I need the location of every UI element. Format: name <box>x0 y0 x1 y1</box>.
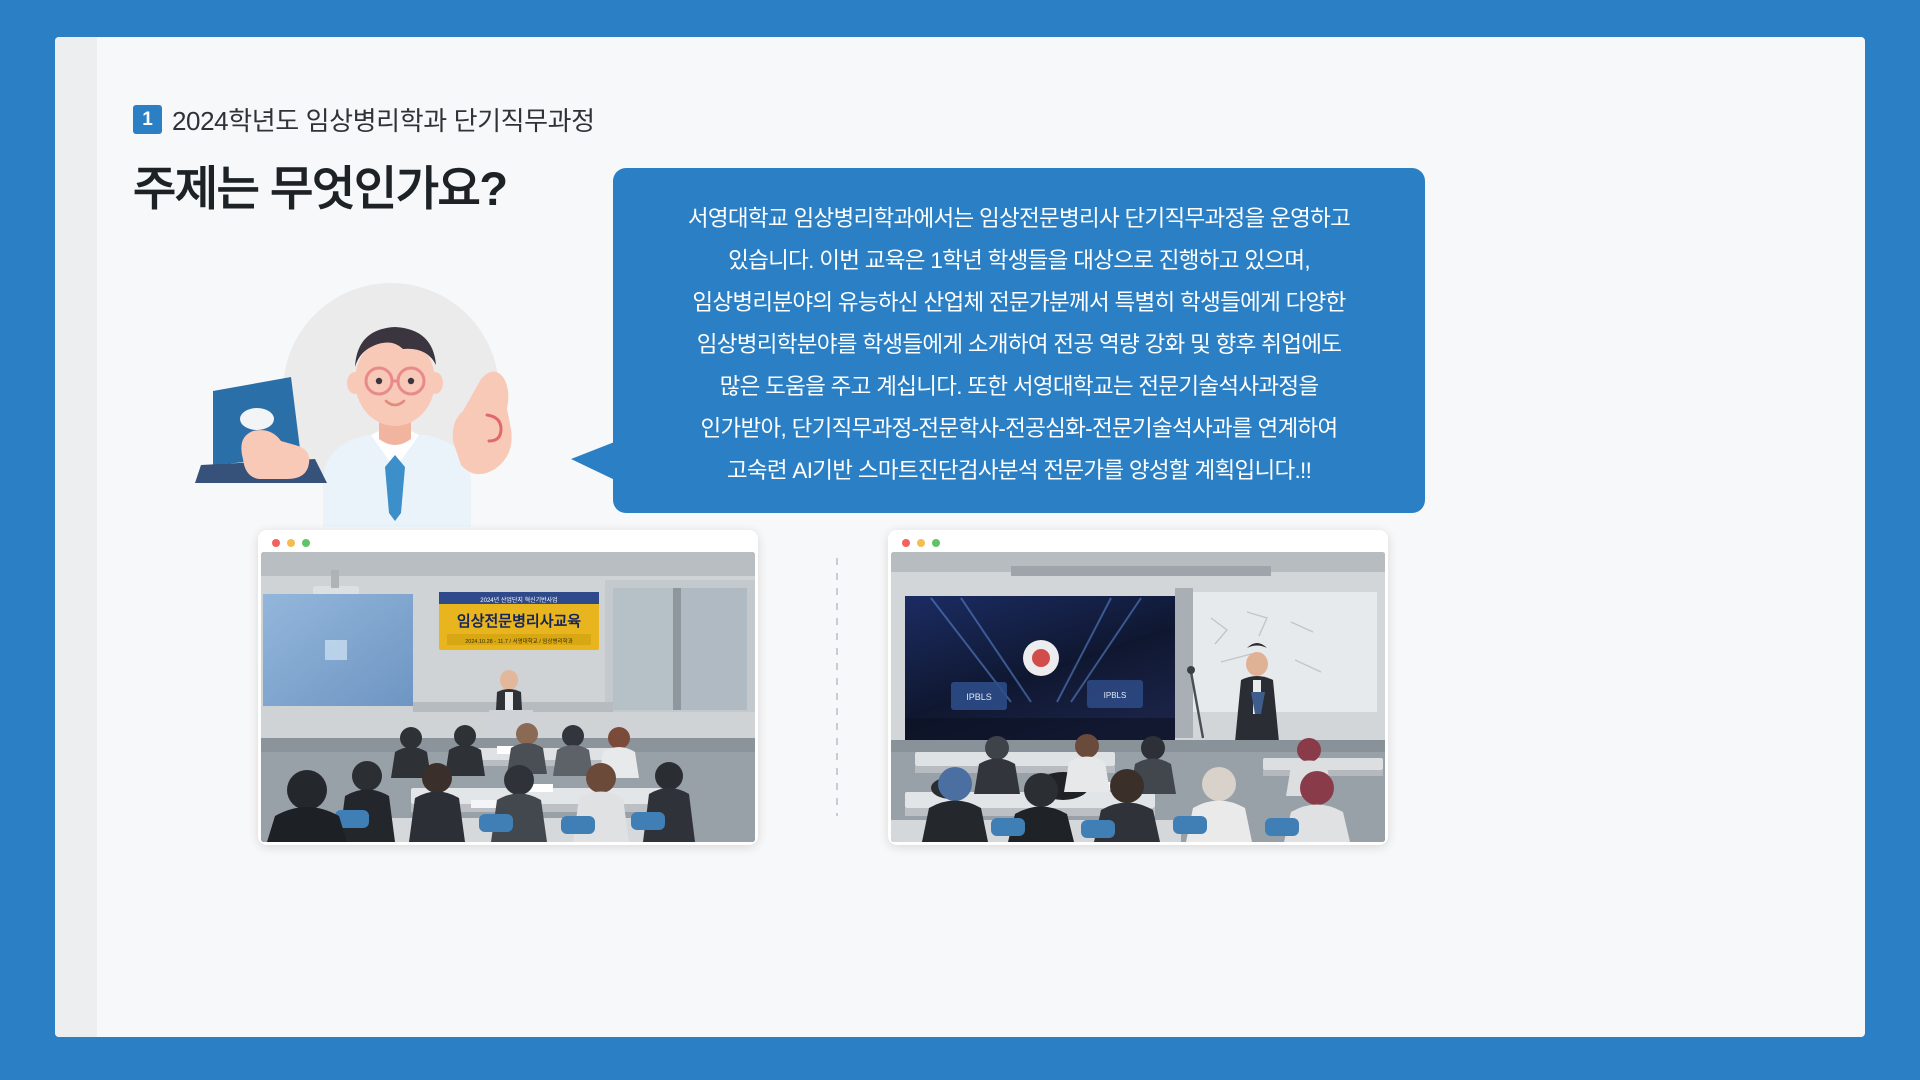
slide-frame: 1 2024학년도 임상병리학과 단기직무과정 주제는 무엇인가요? 서영대학교… <box>0 0 1920 1080</box>
page-title: 주제는 무엇인가요? <box>133 150 595 219</box>
maximize-dot-icon <box>932 539 940 547</box>
bubble-line: 고숙련 AI기반 스마트진단검사분석 전문가를 양성할 계획입니다.!! <box>637 450 1401 492</box>
close-dot-icon <box>902 539 910 547</box>
bubble-line: 있습니다. 이번 교육은 1학년 학생들을 대상으로 진행하고 있으며, <box>637 240 1401 282</box>
badge-number: 1 <box>133 105 162 134</box>
svg-text:IPBLS: IPBLS <box>1104 691 1127 700</box>
maximize-dot-icon <box>302 539 310 547</box>
bubble-line: 인가받아, 단기직무과정-전문학사-전공심화-전문기술석사과를 연계하여 <box>637 408 1401 450</box>
eyebrow-row: 1 2024학년도 임상병리학과 단기직무과정 <box>133 101 595 138</box>
close-dot-icon <box>272 539 280 547</box>
person-with-laptop-illustration <box>195 269 595 529</box>
speech-bubble: 서영대학교 임상병리학과에서는 임상전문병리사 단기직무과정을 운영하고 있습니… <box>613 168 1425 513</box>
header: 1 2024학년도 임상병리학과 단기직무과정 주제는 무엇인가요? <box>133 101 595 219</box>
bubble-line: 많은 도움을 주고 계십니다. 또한 서영대학교는 전문기술석사과정을 <box>637 366 1401 408</box>
photo-row: 2024년 산업단지 혁신기반사업 임상전문병리사교육 2024.10.28 -… <box>258 530 1428 845</box>
classroom-photo-left[interactable]: 2024년 산업단지 혁신기반사업 임상전문병리사교육 2024.10.28 -… <box>258 530 758 845</box>
minimize-dot-icon <box>287 539 295 547</box>
slide-card: 1 2024학년도 임상병리학과 단기직무과정 주제는 무엇인가요? 서영대학교… <box>55 37 1865 1037</box>
bubble-line: 임상병리분야의 유능하신 산업체 전문가분께서 특별히 학생들에게 다양한 <box>637 282 1401 324</box>
bubble-line: 임상병리학분야를 학생들에게 소개하여 전공 역량 강화 및 향후 취업에도 <box>637 324 1401 366</box>
svg-text:임상전문병리사교육: 임상전문병리사교육 <box>457 613 581 630</box>
photo-divider <box>836 558 838 816</box>
classroom-photo-right[interactable]: IPBLS IPBLS <box>888 530 1388 845</box>
svg-text:IPBLS: IPBLS <box>966 692 992 702</box>
bubble-line: 서영대학교 임상병리학과에서는 임상전문병리사 단기직무과정을 운영하고 <box>637 198 1401 240</box>
photo-image-right: IPBLS IPBLS <box>891 552 1385 842</box>
svg-text:2024.10.28 - 11.7 / 서영대학교 / 임상: 2024.10.28 - 11.7 / 서영대학교 / 임상병리학과 <box>465 637 573 645</box>
minimize-dot-icon <box>917 539 925 547</box>
photo-image-left: 2024년 산업단지 혁신기반사업 임상전문병리사교육 2024.10.28 -… <box>261 552 755 842</box>
svg-text:2024년 산업단지 혁신기반사업: 2024년 산업단지 혁신기반사업 <box>480 596 557 604</box>
eyebrow-text: 2024학년도 임상병리학과 단기직무과정 <box>172 101 595 138</box>
left-accent-band <box>55 37 97 1037</box>
